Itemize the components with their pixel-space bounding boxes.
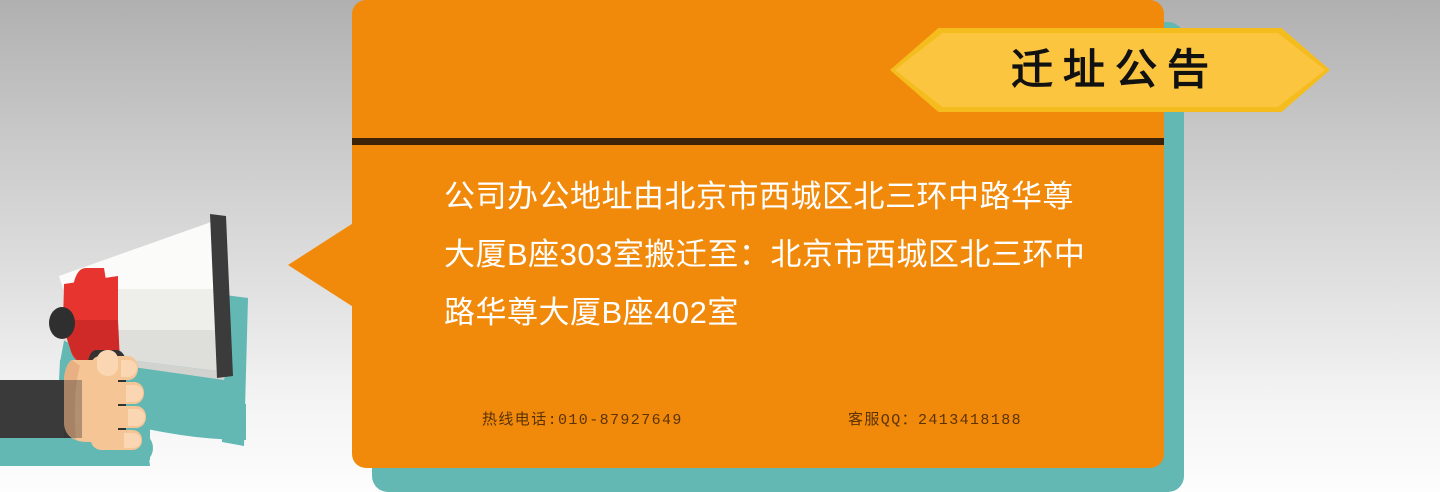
announcement-body: 公司办公地址由北京市西城区北三环中路华尊大厦B座303室搬迁至：北京市西城区北三…: [444, 168, 1092, 342]
title-banner: 迁址公告: [890, 28, 1330, 112]
announcement-banner-stage: 迁址公告 公司办公地址由北京市西城区北三环中路华尊大厦B座303室搬迁至：北京市…: [0, 0, 1440, 492]
title-divider: [352, 138, 1164, 145]
hotline-phone: 热线电话:010-87927649: [482, 408, 683, 429]
contact-footer: 热线电话:010-87927649 客服QQ：2413418188: [444, 408, 1092, 436]
megaphone-illustration: [0, 190, 330, 492]
megaphone-icon: [0, 190, 330, 492]
customer-service-qq: 客服QQ：2413418188: [848, 408, 1022, 429]
speech-tail: [288, 220, 358, 310]
sleeve-cuff: [64, 380, 82, 438]
page-title: 迁址公告: [890, 28, 1330, 112]
